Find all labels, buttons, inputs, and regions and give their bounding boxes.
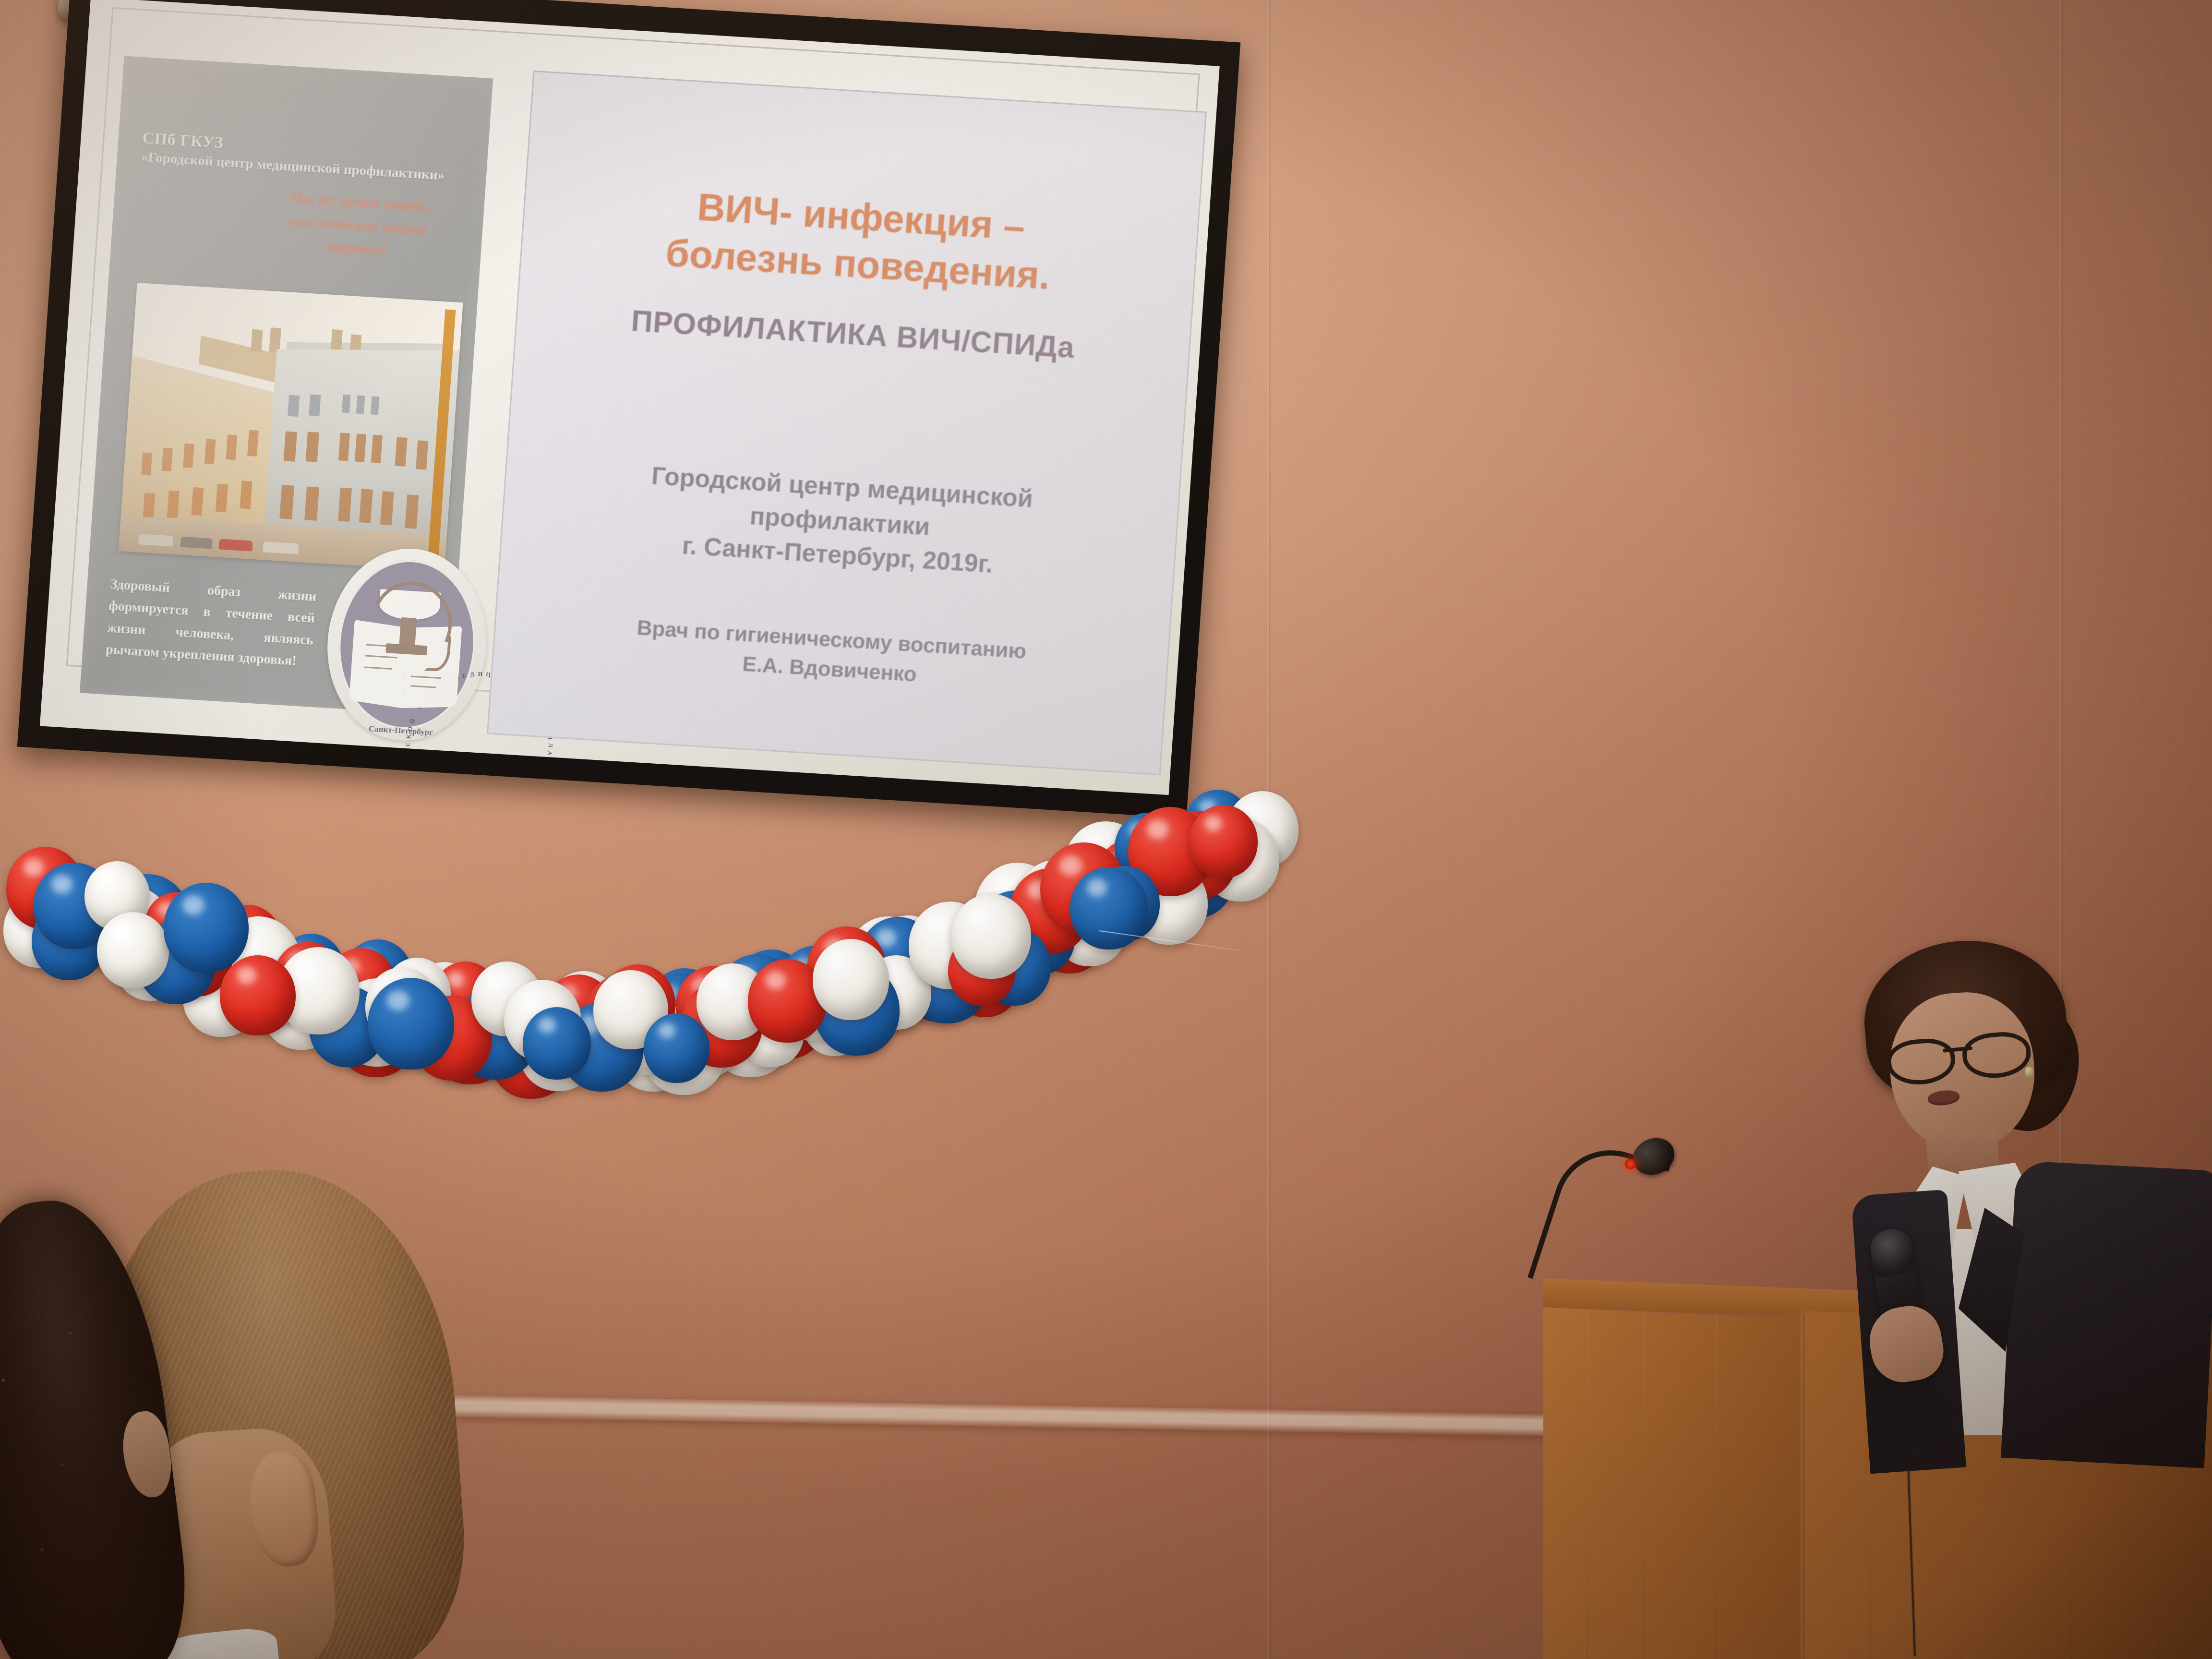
emblem-ring-char: Д <box>405 750 412 755</box>
window <box>284 431 297 461</box>
mic-status-led <box>1625 1159 1635 1169</box>
balloon-white <box>97 912 169 988</box>
window <box>204 439 216 464</box>
emblem-ring-char: Й <box>409 718 417 724</box>
emblem-ring-char: А <box>546 751 553 756</box>
parked-car <box>180 537 213 549</box>
balloon-blue <box>368 978 454 1070</box>
window <box>342 395 351 413</box>
emblem-ring-char: Р <box>408 765 416 771</box>
parked-car <box>218 539 252 551</box>
photo-scene: СПб ГКУЗ «Городской центр медицинской пр… <box>0 0 2212 1659</box>
slide-title: ВИЧ- инфекция – болезнь поведения. <box>540 174 1179 307</box>
window <box>304 486 319 520</box>
emblem-ring-char: Г <box>414 779 422 785</box>
window <box>191 487 204 516</box>
emblem-ring-char: Д <box>470 671 475 678</box>
parked-car <box>138 534 173 546</box>
screen-frame: СПб ГКУЗ «Городской центр медицинской пр… <box>17 0 1241 818</box>
window <box>279 485 294 519</box>
window <box>167 491 180 518</box>
window <box>359 489 373 523</box>
window <box>395 437 407 467</box>
audience-foreground <box>0 1162 509 1659</box>
dark-jacket-right <box>2001 1160 2212 1468</box>
window <box>371 435 383 463</box>
balloon-blue <box>523 1007 591 1080</box>
window <box>309 394 321 416</box>
parked-car <box>263 541 299 554</box>
emblem-ring-char: О <box>410 772 419 779</box>
emblem-ring-char: О <box>406 757 414 763</box>
window <box>338 488 352 522</box>
emblem-ring-char: Е <box>462 672 467 680</box>
window <box>416 440 428 469</box>
balloon-blue <box>644 1013 709 1083</box>
emblem-ring-char: К <box>535 779 543 786</box>
window <box>356 395 365 414</box>
emblem-ring-char: И <box>478 671 483 678</box>
emblem-ring-char: Т <box>542 766 550 772</box>
org-slogan: Мы не лечим людей, мы помогаем людям здо… <box>252 184 463 266</box>
slide-subtitle: ПРОФИЛАКТИКА ВИЧ/СПИДа <box>536 298 1171 371</box>
presenter <box>1815 941 2212 1469</box>
window <box>355 434 366 462</box>
balloon-blue <box>1070 867 1148 950</box>
emblem-ring-char: Л <box>547 743 554 747</box>
organization-header: СПб ГКУЗ «Городской центр медицинской пр… <box>141 129 450 184</box>
window <box>288 395 300 417</box>
window <box>162 448 173 471</box>
gooseneck-microphone[interactable] <box>1548 1147 1663 1301</box>
balloon-white <box>951 894 1031 979</box>
healthy-lifestyle-quote: Здоровый образ жизни формируется в течен… <box>105 574 317 673</box>
window <box>306 432 319 462</box>
window <box>141 452 152 475</box>
presentation-slide: СПб ГКУЗ «Городской центр медицинской пр… <box>40 0 1220 795</box>
window <box>183 444 194 468</box>
earring <box>2025 1067 2033 1077</box>
emblem-ring-char: Ц <box>485 671 491 678</box>
screen-surface: СПб ГКУЗ «Городской центр медицинской пр… <box>40 0 1220 795</box>
window <box>247 430 259 457</box>
emblem-ring-char: С <box>405 742 412 746</box>
podium-face-left <box>1543 1308 1805 1659</box>
slide-author: Врач по гигиеническому воспитанию Е.А. В… <box>512 606 1149 703</box>
center-emblem: ГОРОДСКОЙ ЦЕНТР МЕДИЦИНСКОЙ ПРОФИЛАКТИКИ <box>321 544 493 745</box>
historic-building-photo <box>119 283 463 571</box>
window <box>216 484 228 512</box>
window <box>226 434 238 460</box>
emblem-ring-char <box>412 711 420 716</box>
window <box>371 396 380 415</box>
balloon-white <box>813 939 889 1020</box>
emblem-ring-char: К <box>544 758 553 764</box>
emblem-ring-char: И <box>539 772 547 780</box>
emblem-ring-char: И <box>530 785 539 793</box>
slide-organization: Городской центр медицинской профилактики… <box>529 452 1150 591</box>
chimney <box>251 329 263 352</box>
balloon-red <box>1189 805 1258 878</box>
window <box>405 494 419 529</box>
slide-left-panel: СПб ГКУЗ «Городской центр медицинской пр… <box>80 56 493 716</box>
window <box>380 491 394 525</box>
window <box>338 433 350 461</box>
balloon-blue <box>164 883 249 973</box>
window <box>240 481 252 509</box>
window <box>143 493 155 520</box>
podium-front-edge <box>1801 1313 1804 1659</box>
slide-right-panel: ВИЧ- инфекция – болезнь поведения. ПРОФИ… <box>487 71 1207 775</box>
balloon-red <box>220 955 296 1035</box>
projection-screen-assembly: СПб ГКУЗ «Городской центр медицинской пр… <box>29 0 1258 879</box>
